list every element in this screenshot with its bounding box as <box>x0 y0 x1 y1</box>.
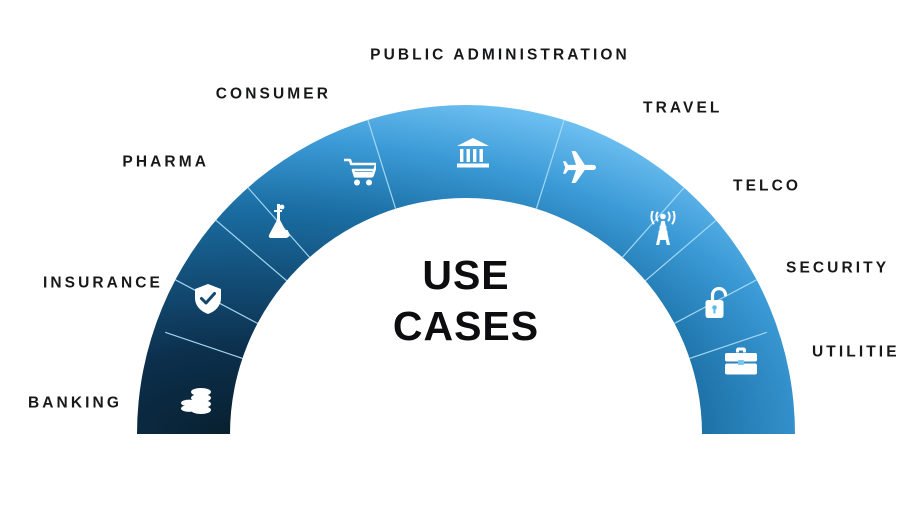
label-consumer: CONSUMER <box>216 86 331 102</box>
label-public-administration: PUBLIC ADMINISTRATION <box>370 47 630 63</box>
page-title-line1: USE <box>393 250 539 301</box>
label-insurance: INSURANCE <box>43 275 163 291</box>
page-title: USE CASES <box>393 250 539 353</box>
label-telco: TELCO <box>733 178 801 194</box>
page-title-line2: CASES <box>393 301 539 352</box>
label-utilities: UTILITIES <box>812 344 900 360</box>
label-travel: TRAVEL <box>643 100 722 116</box>
infographic-canvas: USE CASES <box>0 0 900 506</box>
label-security: SECURITY <box>786 260 889 276</box>
label-pharma: PHARMA <box>122 154 209 170</box>
label-banking: BANKING <box>28 395 122 411</box>
